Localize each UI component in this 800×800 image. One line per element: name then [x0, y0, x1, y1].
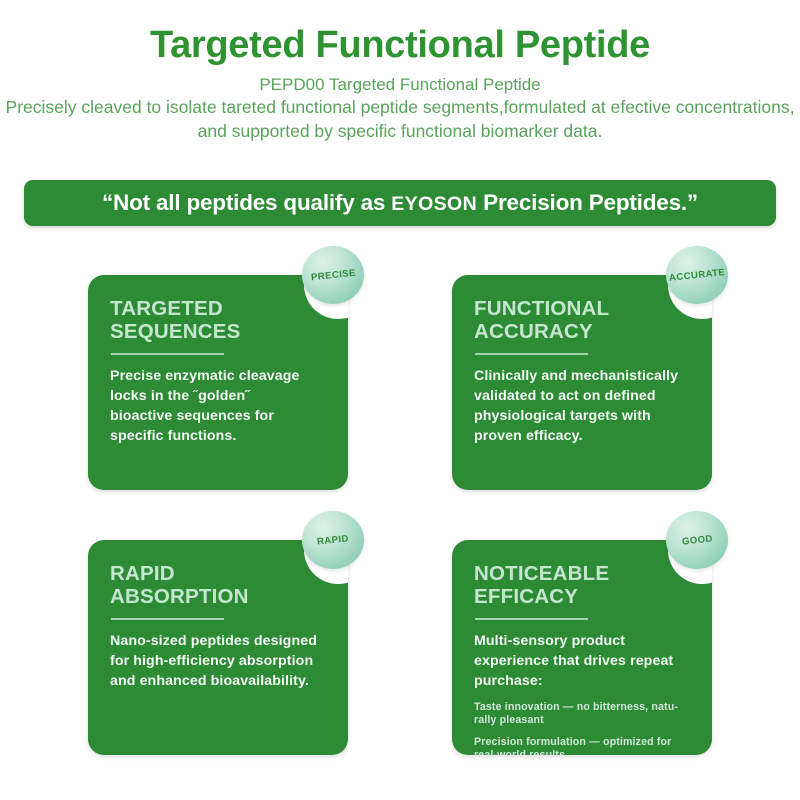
card-divider: [111, 618, 224, 620]
feature-card-targeted-sequences[interactable]: TARGETED SEQUENCES Precise enzymatic cle…: [88, 262, 348, 490]
card-description: Precise enzymatic cleavage locks in the …: [110, 366, 326, 447]
card-body: RAPID ABSORPTION Nano-sized peptides des…: [88, 540, 348, 691]
page-header: Targeted Functional Peptide PEPD00 Targe…: [0, 0, 800, 143]
page-description: Precisely cleaved to isolate tareted fun…: [5, 96, 795, 143]
feature-card-rapid-absorption[interactable]: RAPID ABSORPTION Nano-sized peptides des…: [88, 527, 348, 755]
card-surface: RAPID ABSORPTION Nano-sized peptides des…: [88, 540, 348, 755]
page-title: Targeted Functional Peptide: [0, 26, 800, 66]
card-bullet-list: Taste innovation — no bitterness, natu- …: [474, 701, 690, 755]
badge-label: GOOD: [681, 533, 713, 547]
card-title: NOTICEABLE EFFICACY: [474, 562, 690, 609]
feature-card-noticeable-efficacy[interactable]: NOTICEABLE EFFICACY Multi-sensory produc…: [452, 527, 712, 755]
card-title: TARGETED SEQUENCES: [110, 297, 326, 344]
card-surface: TARGETED SEQUENCES Precise enzymatic cle…: [88, 275, 348, 490]
badge-label: ACCURATE: [668, 267, 725, 284]
badge-rapid: RAPID: [302, 511, 364, 569]
card-description: Multi-sensory product experience that dr…: [474, 631, 690, 691]
card-body: NOTICEABLE EFFICACY Multi-sensory produc…: [452, 540, 712, 755]
card-row-1: TARGETED SEQUENCES Precise enzymatic cle…: [0, 262, 800, 527]
quote-open-text: “Not all peptides qualify as: [102, 190, 391, 215]
quote-banner-text: “Not all peptides qualify as EYOSON Prec…: [102, 190, 698, 216]
product-code-line: PEPD00 Targeted Functional Peptide: [0, 74, 800, 95]
list-item: Taste innovation — no bitterness, natu- …: [474, 701, 690, 727]
badge-label: PRECISE: [310, 267, 356, 283]
card-body: FUNCTIONAL ACCURACY Clinically and mecha…: [452, 275, 712, 446]
badge-precise: PRECISE: [302, 246, 364, 304]
quote-close-text: Precision Peptides.”: [477, 190, 698, 215]
quote-banner-body: “Not all peptides qualify as EYOSON Prec…: [24, 180, 776, 226]
feature-card-functional-accuracy[interactable]: FUNCTIONAL ACCURACY Clinically and mecha…: [452, 262, 712, 490]
quote-banner: “Not all peptides qualify as EYOSON Prec…: [24, 180, 776, 226]
badge-accurate: ACCURATE: [666, 246, 728, 304]
card-divider: [475, 353, 588, 355]
card-body: TARGETED SEQUENCES Precise enzymatic cle…: [88, 275, 348, 446]
card-surface: FUNCTIONAL ACCURACY Clinically and mecha…: [452, 275, 712, 490]
card-title: RAPID ABSORPTION: [110, 562, 326, 609]
card-description: Nano-sized peptides designed for high-ef…: [110, 631, 326, 691]
card-surface: NOTICEABLE EFFICACY Multi-sensory produc…: [452, 540, 712, 755]
card-description: Clinically and mechanistically validated…: [474, 366, 690, 447]
card-divider: [475, 618, 588, 620]
badge-good: GOOD: [666, 511, 728, 569]
card-title: FUNCTIONAL ACCURACY: [474, 297, 690, 344]
list-item: Precision formulation — optimized for re…: [474, 736, 690, 755]
brand-name: EYOSON: [391, 193, 477, 215]
badge-label: RAPID: [317, 533, 350, 547]
card-row-2: RAPID ABSORPTION Nano-sized peptides des…: [0, 527, 800, 792]
feature-card-grid: TARGETED SEQUENCES Precise enzymatic cle…: [0, 262, 800, 792]
card-divider: [111, 353, 224, 355]
